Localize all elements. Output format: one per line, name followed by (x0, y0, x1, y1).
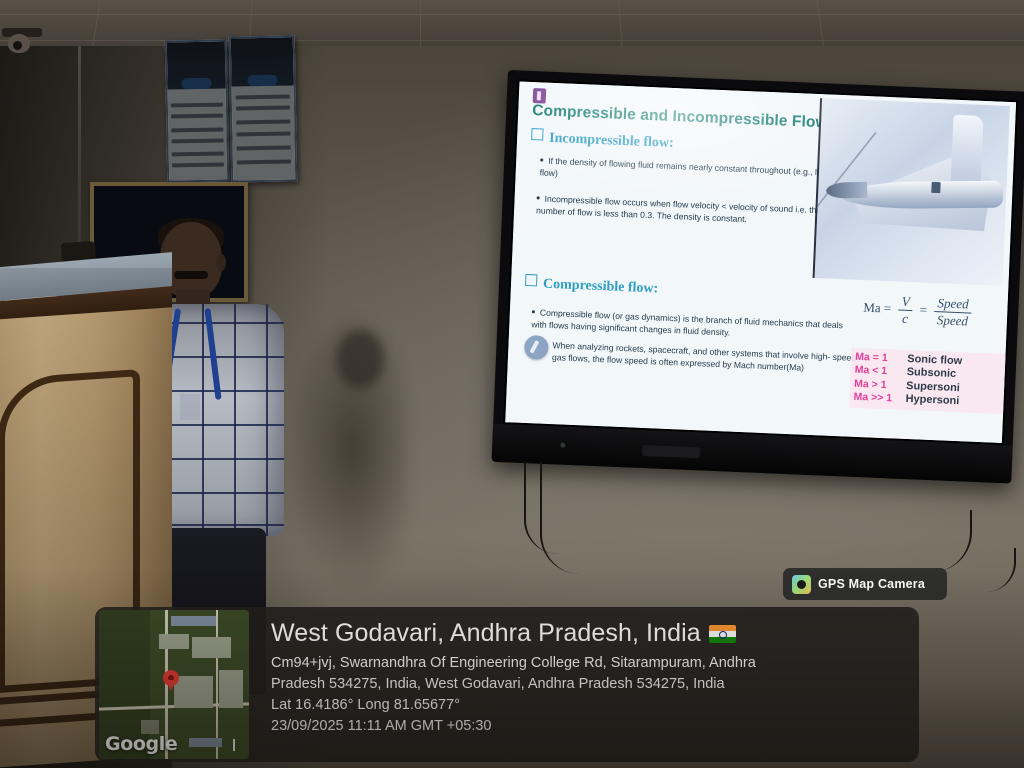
display-screen: Compressible and Incompressible Flows In… (505, 81, 1016, 443)
screenshot-root: Compressible and Incompressible Flows In… (0, 0, 1024, 768)
wall-mounted-display: Compressible and Incompressible Flows In… (492, 70, 1024, 483)
wall-poster-left (165, 39, 229, 182)
cctv-camera-icon (2, 28, 42, 54)
bullet-incompressible-1: If the density of flowing fluid remains … (539, 154, 840, 191)
power-led-icon (560, 443, 565, 448)
wall-poster-right (229, 35, 298, 182)
bullet-compressible-2: When analyzing rockets, spacecraft, and … (552, 339, 861, 377)
section-heading-incompressible: Incompressible flow: (531, 128, 674, 152)
presenter-shadow-head (336, 330, 384, 388)
supersonic-aircraft-photo (813, 98, 1010, 286)
floor-shadow (0, 568, 1024, 768)
mach-number-formula: Ma = V c = Speed Speed (863, 292, 1014, 331)
presenter-id-badge (180, 394, 200, 420)
ir-receiver (642, 445, 700, 458)
checkbox-icon (525, 274, 537, 286)
bullet-incompressible-2: Incompressible flow occurs when flow vel… (536, 192, 847, 230)
section-heading-compressible: Compressible flow: (525, 274, 659, 298)
checkbox-icon (531, 128, 543, 140)
mach-number-table: Ma = 1 Sonic flow Ma < 1 Subsonic Ma > 1… (849, 348, 1016, 415)
pen-annotation-icon (524, 335, 549, 360)
bullet-compressible-1: Compressible flow (or gas dynamics) is t… (531, 306, 860, 345)
display-cable-2 (540, 462, 604, 574)
presenter-moustache (174, 271, 208, 279)
presentation-slide: Compressible and Incompressible Flows In… (505, 81, 1016, 443)
slide-title: Compressible and Incompressible Flows (532, 102, 862, 134)
